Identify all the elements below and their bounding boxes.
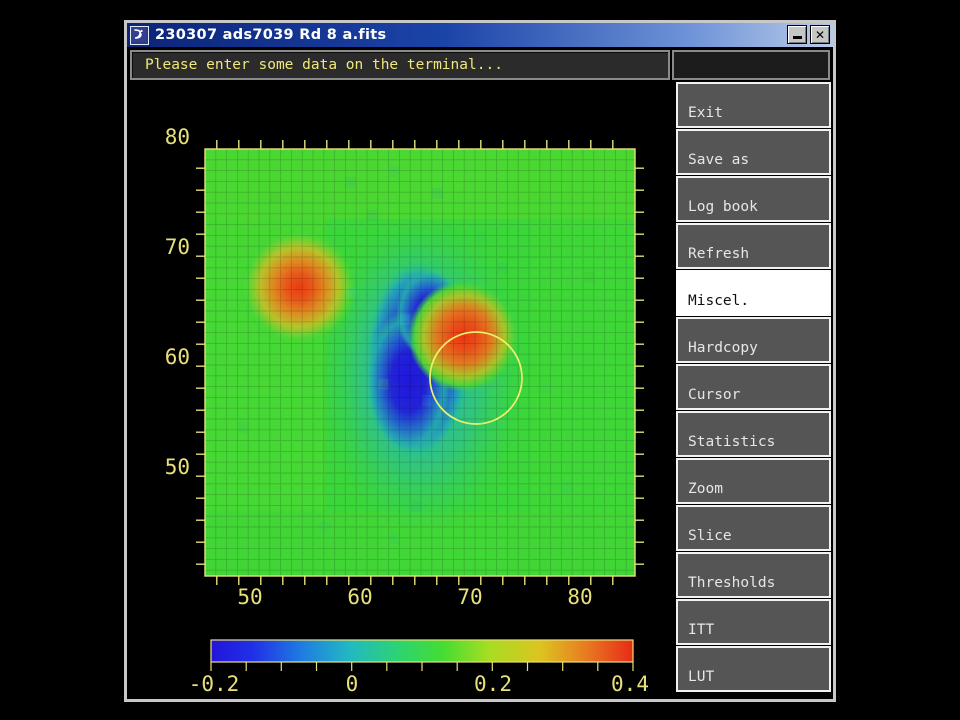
tool-button-panel: Exit Save as Log book Refresh Miscel. Ha…	[676, 82, 833, 699]
window-controls: ✕	[787, 25, 830, 44]
title-bar: 230307 ads7039 Rd 8 a.fits ✕	[127, 23, 833, 47]
svg-text:50: 50	[237, 585, 262, 609]
svg-text:0.4: 0.4	[611, 672, 649, 696]
button-exit[interactable]: Exit	[676, 82, 831, 128]
button-lut-label: LUT	[678, 669, 714, 690]
svg-text:60: 60	[347, 585, 372, 609]
button-statistics[interactable]: Statistics	[676, 411, 831, 457]
button-refresh-label: Refresh	[678, 246, 749, 267]
status-message-field[interactable]: Please enter some data on the terminal..…	[130, 50, 670, 80]
status-message-text: Please enter some data on the terminal..…	[132, 57, 503, 73]
close-button[interactable]: ✕	[810, 25, 830, 44]
button-zoom-label: Zoom	[678, 481, 723, 502]
button-miscel[interactable]: Miscel.	[676, 270, 831, 316]
svg-text:0.2: 0.2	[474, 672, 512, 696]
svg-text:80: 80	[165, 125, 190, 149]
app-icon	[130, 26, 149, 45]
heatmap-image[interactable]	[205, 149, 635, 576]
button-slice-label: Slice	[678, 528, 732, 549]
svg-text:70: 70	[457, 585, 482, 609]
button-thresholds[interactable]: Thresholds	[676, 552, 831, 598]
application-window: 230307 ads7039 Rd 8 a.fits ✕ Please ente…	[124, 20, 836, 702]
secondary-input-field[interactable]	[672, 50, 830, 80]
button-save-as[interactable]: Save as	[676, 129, 831, 175]
message-row: Please enter some data on the terminal..…	[130, 50, 830, 80]
button-itt-label: ITT	[678, 622, 714, 643]
button-log-book-label: Log book	[678, 199, 758, 220]
svg-text:-0.2: -0.2	[189, 672, 240, 696]
button-cursor-label: Cursor	[678, 387, 740, 408]
svg-text:0: 0	[346, 672, 359, 696]
image-display-pane[interactable]: 50 60 70 80 50 60 70 80	[130, 82, 672, 699]
minimize-button[interactable]	[787, 25, 807, 44]
svg-text:60: 60	[165, 345, 190, 369]
button-hardcopy[interactable]: Hardcopy	[676, 317, 831, 363]
screen: 230307 ads7039 Rd 8 a.fits ✕ Please ente…	[0, 0, 960, 720]
minimize-glyph	[793, 36, 802, 39]
button-itt[interactable]: ITT	[676, 599, 831, 645]
button-save-as-label: Save as	[678, 152, 749, 173]
button-zoom[interactable]: Zoom	[676, 458, 831, 504]
svg-text:50: 50	[165, 455, 190, 479]
svg-text:70: 70	[165, 235, 190, 259]
button-cursor[interactable]: Cursor	[676, 364, 831, 410]
svg-text:80: 80	[567, 585, 592, 609]
button-log-book[interactable]: Log book	[676, 176, 831, 222]
button-slice[interactable]: Slice	[676, 505, 831, 551]
button-refresh[interactable]: Refresh	[676, 223, 831, 269]
button-statistics-label: Statistics	[678, 434, 775, 455]
image-plot[interactable]: 50 60 70 80 50 60 70 80	[130, 82, 672, 699]
button-lut[interactable]: LUT	[676, 646, 831, 692]
colorbar-gradient[interactable]	[211, 640, 633, 662]
button-miscel-label: Miscel.	[678, 293, 749, 314]
button-exit-label: Exit	[678, 105, 723, 126]
button-thresholds-label: Thresholds	[678, 575, 775, 596]
window-title: 230307 ads7039 Rd 8 a.fits	[155, 27, 386, 43]
button-hardcopy-label: Hardcopy	[678, 340, 758, 361]
